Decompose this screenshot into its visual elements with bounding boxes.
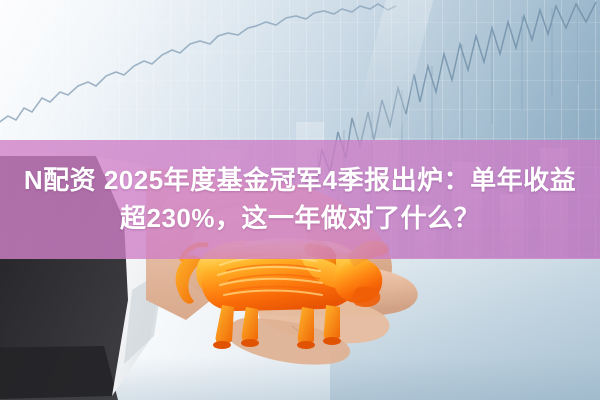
headline-line-1: N配资 2025年度基金冠军4季报出炉：单年收益 (24, 165, 576, 197)
headline-text: N配资 2025年度基金冠军4季报出炉：单年收益 超230%，这一年做对了什么？ (0, 140, 600, 259)
bull-leg-hind-left (216, 305, 234, 346)
bull-leg-hind-right (242, 307, 258, 344)
bull-leg-fore-right (324, 305, 340, 342)
screenshot-canvas: N配资 2025年度基金冠军4季报出炉：单年收益 超230%，这一年做对了什么？ (0, 0, 600, 400)
bull-leg-fore-left (298, 307, 314, 346)
headline-line-2: 超230%，这一年做对了什么？ (120, 203, 480, 235)
